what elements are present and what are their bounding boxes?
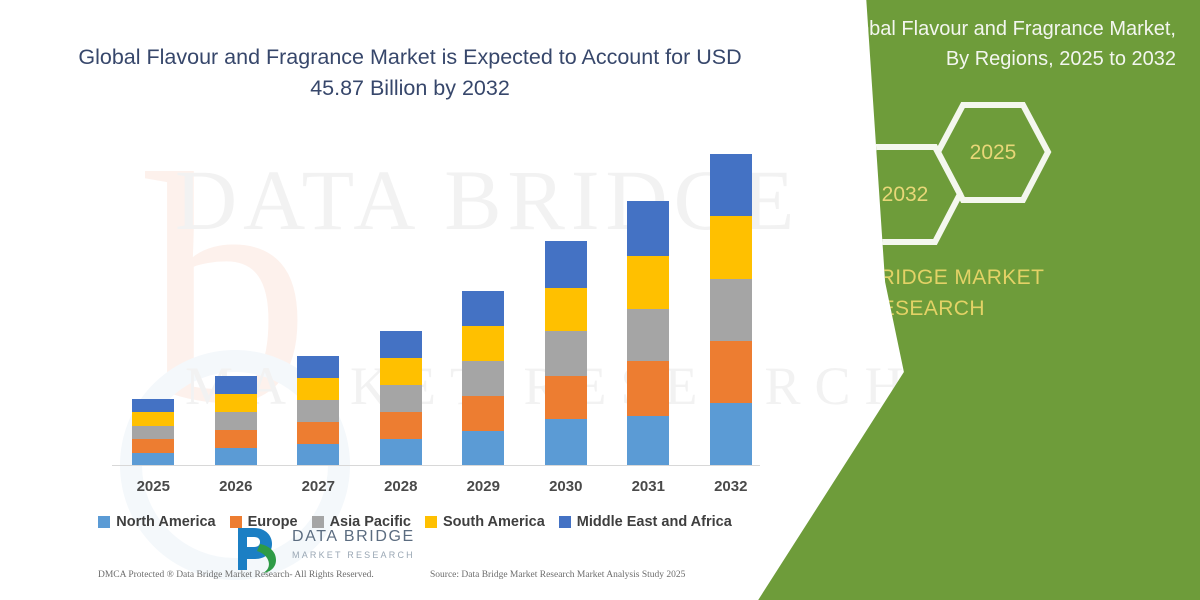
bar-segment xyxy=(545,376,587,419)
bar-segment xyxy=(710,403,752,466)
bar-segment xyxy=(297,422,339,444)
bar-group xyxy=(113,399,193,467)
bar-segment xyxy=(545,419,587,466)
bar-segment xyxy=(297,378,339,400)
bar-segment xyxy=(545,331,587,376)
bar-segment xyxy=(462,291,504,326)
stacked-bar-chart xyxy=(112,140,772,466)
bar-segment xyxy=(627,416,669,466)
bar-segment xyxy=(380,385,422,412)
hexagon-2032: 2032 xyxy=(845,142,965,247)
bar-segment xyxy=(380,331,422,358)
bar-group xyxy=(278,356,358,466)
bar-group xyxy=(361,331,441,466)
hexagon-group: 2025 2032 xyxy=(845,100,1055,230)
x-axis-line xyxy=(112,465,760,466)
bar-segment xyxy=(215,394,257,412)
bar-group xyxy=(526,241,606,466)
bar-group xyxy=(196,376,276,466)
bar-segment xyxy=(462,326,504,361)
bar-segment xyxy=(132,426,174,440)
bar-segment xyxy=(215,412,257,430)
bar-segment xyxy=(627,201,669,256)
stacked-bar xyxy=(545,241,587,466)
bar-segment xyxy=(297,356,339,378)
bar-segment xyxy=(710,154,752,216)
legend-swatch xyxy=(98,516,110,528)
bar-segment xyxy=(380,412,422,439)
data-bridge-logo-mark xyxy=(230,524,284,579)
bar-segment xyxy=(627,361,669,416)
legend-label: Middle East and Africa xyxy=(577,514,732,530)
bar-segment xyxy=(710,279,752,341)
stacked-bar xyxy=(297,356,339,466)
hexagon-2032-label: 2032 xyxy=(845,183,965,207)
bar-segment xyxy=(215,430,257,448)
bar-group xyxy=(443,291,523,466)
stacked-bar xyxy=(132,399,174,467)
stacked-bar xyxy=(462,291,504,466)
bar-segment xyxy=(462,361,504,396)
panel-brand: DATA BRIDGE MARKET RESEARCH xyxy=(730,262,1120,324)
bar-segment xyxy=(132,399,174,413)
x-axis-label: 2028 xyxy=(361,478,441,495)
bar-segment xyxy=(627,256,669,309)
bar-segment xyxy=(380,439,422,466)
bar-segment xyxy=(710,341,752,403)
chart-title: Global Flavour and Fragrance Market is E… xyxy=(60,42,760,104)
bar-group xyxy=(691,154,771,466)
infographic-canvas: b DATA BRIDGE MARKET RESEARCH Global Fla… xyxy=(0,0,1200,600)
bar-segment xyxy=(215,376,257,394)
bar-segment xyxy=(545,241,587,288)
bar-segment xyxy=(132,453,174,467)
bar-segment xyxy=(380,358,422,385)
green-side-panel: Global Flavour and Fragrance Market, By … xyxy=(730,0,1200,600)
bar-segment xyxy=(132,412,174,426)
x-axis-labels: 20252026202720282029203020312032 xyxy=(112,478,772,502)
panel-title: Global Flavour and Fragrance Market, By … xyxy=(836,14,1176,74)
panel-brand-line2: RESEARCH xyxy=(730,293,1120,324)
stacked-bar xyxy=(215,376,257,466)
x-axis-label: 2026 xyxy=(196,478,276,495)
data-bridge-logo: DATA BRIDGE MARKET RESEARCH xyxy=(230,520,460,580)
x-axis-label: 2030 xyxy=(526,478,606,495)
data-bridge-logo-tagline: MARKET RESEARCH xyxy=(292,550,415,560)
bar-group xyxy=(608,201,688,466)
footer-source: Source: Data Bridge Market Research Mark… xyxy=(430,570,685,580)
stacked-bar xyxy=(710,154,752,466)
stacked-bar xyxy=(380,331,422,466)
x-axis-label: 2029 xyxy=(443,478,523,495)
bar-segment xyxy=(297,400,339,422)
bar-segment xyxy=(627,309,669,361)
legend-item[interactable]: Middle East and Africa xyxy=(559,514,732,530)
panel-brand-line1: DATA BRIDGE MARKET xyxy=(730,262,1120,293)
x-axis-label: 2032 xyxy=(691,478,771,495)
bar-segment xyxy=(132,439,174,453)
bar-segment xyxy=(462,431,504,466)
x-axis-label: 2027 xyxy=(278,478,358,495)
x-axis-label: 2031 xyxy=(608,478,688,495)
bar-segment xyxy=(545,288,587,331)
bar-segment xyxy=(462,396,504,431)
stacked-bar xyxy=(627,201,669,466)
bar-segment xyxy=(297,444,339,466)
data-bridge-logo-name: DATA BRIDGE xyxy=(292,528,415,546)
legend-label: North America xyxy=(116,514,215,530)
legend-item[interactable]: North America xyxy=(98,514,215,530)
x-axis-label: 2025 xyxy=(113,478,193,495)
bar-segment xyxy=(215,448,257,466)
legend-swatch xyxy=(559,516,571,528)
bar-segment xyxy=(710,216,752,279)
